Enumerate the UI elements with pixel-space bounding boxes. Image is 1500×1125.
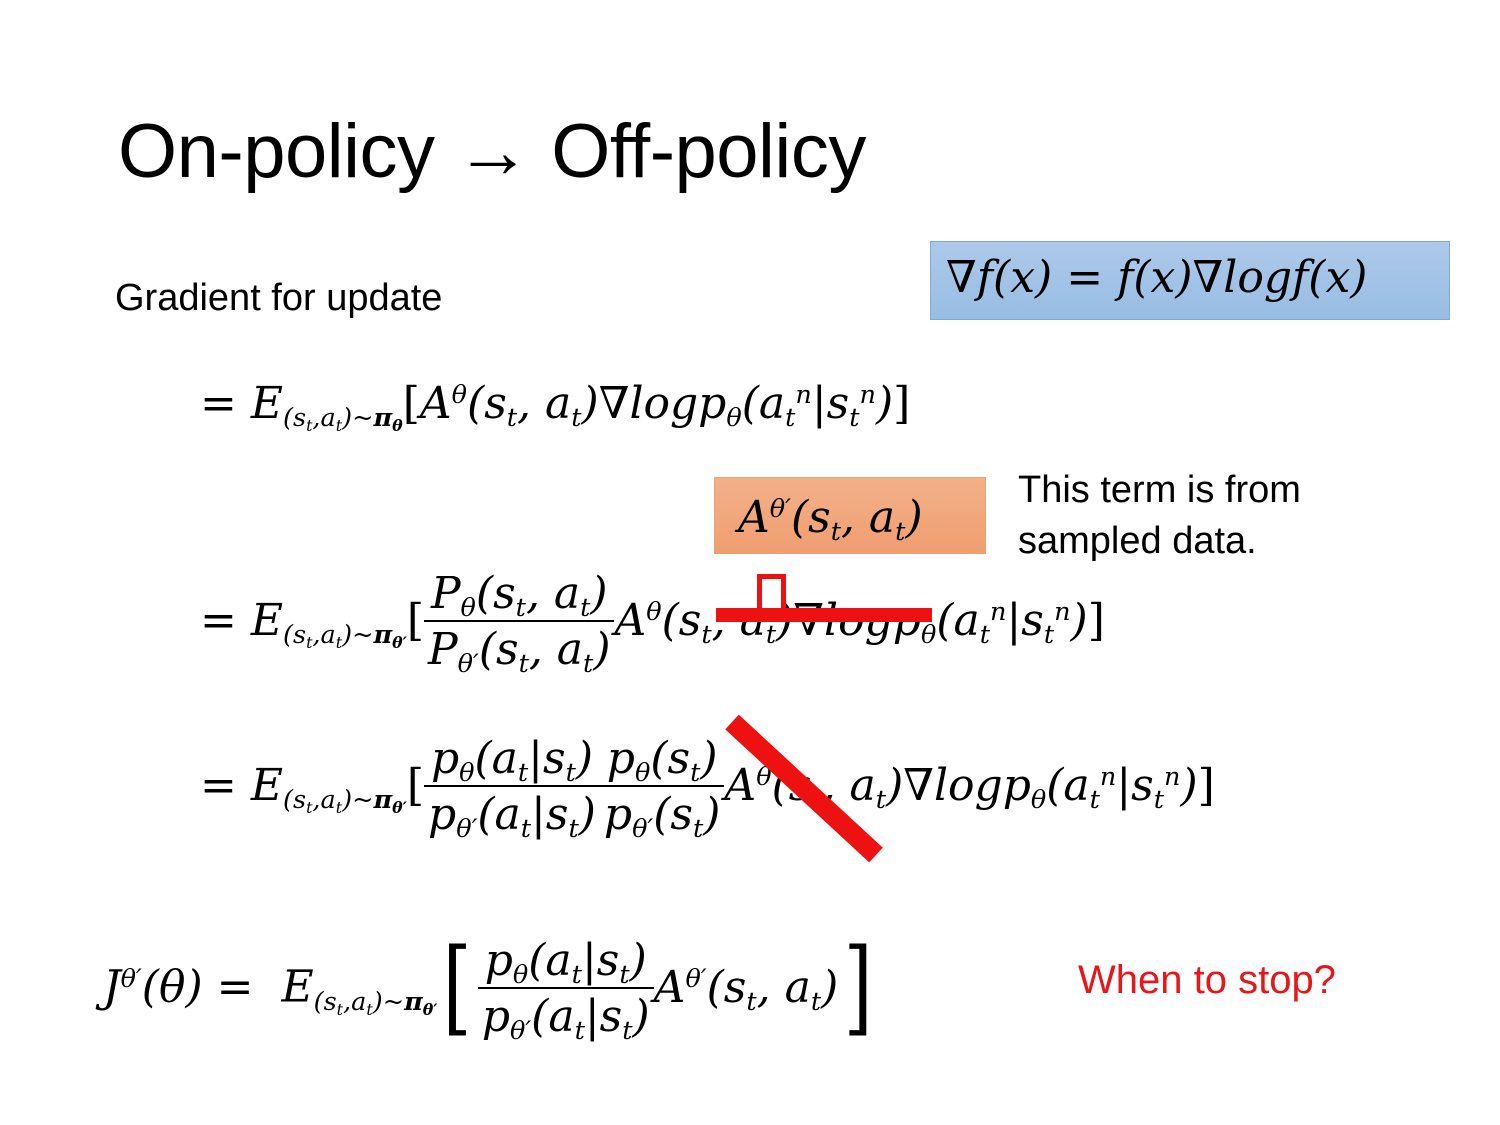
equation-line-4: Jθ′(θ) = E(st,at)~πθ′[pθ(at|st)pθ′(at|st…	[103, 930, 879, 1050]
advantage-term-4: Aθ′(st, at)	[654, 962, 839, 1013]
bracket-close-1: ]	[893, 378, 910, 429]
equals-sign-1: =	[200, 378, 237, 429]
expectation-subscript-4: (st,at)~πθ′	[314, 987, 438, 1017]
expectation-symbol-1: E	[251, 378, 283, 429]
action-probability-ratio-fraction-3: pθ(at|st)pθ′(at|st)	[424, 733, 600, 840]
fraction-denominator-3a: pθ′(at|st)	[424, 787, 600, 840]
probability-ratio-fraction-2: Pθ(st, at)Pθ′(st, at)	[424, 568, 614, 675]
horizontal-strikethrough-bar	[716, 608, 932, 622]
f-symbol-2: f	[1117, 252, 1133, 303]
equals-sign-2: =	[200, 595, 237, 646]
fraction-numerator-3b: pθ(st)	[600, 733, 725, 787]
nabla-icon-3: ∇	[599, 378, 630, 429]
equation-line-3: = E(st,at)~πθ′[pθ(at|st)pθ′(at|st)pθ(st)…	[200, 735, 1215, 842]
bracket-close-3: ]	[1198, 760, 1215, 811]
expectation-subscript-3: (st,at)~πθ′	[283, 785, 407, 815]
page-title: On-policy → Off-policy	[118, 112, 866, 192]
bracket-close-2: ]	[1088, 595, 1105, 646]
equals-sign-4: =	[217, 962, 254, 1013]
advantage-term-formula: Aθ′(st, at)	[738, 492, 923, 543]
advantage-A: A	[738, 492, 770, 543]
fraction-denominator-2: Pθ′(st, at)	[424, 622, 614, 675]
equals-sign-3: =	[200, 760, 237, 811]
grad-log-3: logpθ(atn|stn)	[934, 760, 1198, 811]
fraction-numerator-4: pθ(at|st)	[478, 935, 654, 989]
equation-line-1: = E(st,at)~πθ[Aθ(st, at)∇logpθ(atn|stn)]	[200, 378, 910, 429]
sampled-data-note: This term is from sampled data.	[1018, 465, 1398, 568]
grad-log-1: logpθ(atn|stn)	[629, 378, 893, 429]
nabla-icon-2: ∇	[1193, 252, 1224, 303]
advantage-term-1: Aθ(st, at)	[420, 378, 599, 429]
objective-superscript: θ′	[121, 964, 142, 994]
f-symbol: f	[977, 252, 993, 303]
expectation-symbol-4: E	[281, 962, 313, 1013]
fraction-numerator-3a: pθ(at|st)	[424, 733, 600, 787]
nabla-icon-5: ∇	[903, 760, 934, 811]
expectation-symbol-2: E	[251, 595, 283, 646]
equation-line-2: = E(st,at)~πθ′[Pθ(st, at)Pθ′(st, at)Aθ(s…	[200, 570, 1105, 677]
big-bracket-open: [	[443, 927, 472, 1047]
x-arg-2: (x)	[1133, 252, 1192, 303]
bracket-open-3: [	[407, 760, 424, 811]
bracket-open-2: [	[407, 595, 424, 646]
fraction-denominator-3b: pθ′(st)	[600, 787, 725, 840]
objective-arg: (θ)	[142, 962, 203, 1013]
x-arg: (x)	[993, 252, 1052, 303]
log-derivative-identity-formula: ∇f(x) = f(x)∇logf(x)	[946, 252, 1367, 303]
expectation-subscript-2: (st,at)~πθ′	[283, 620, 407, 650]
fraction-numerator-2: Pθ(st, at)	[424, 568, 614, 622]
gradient-for-update-label: Gradient for update	[115, 277, 442, 320]
expectation-symbol-3: E	[251, 760, 283, 811]
equals-sign: =	[1066, 252, 1103, 303]
bracket-open-1: [	[403, 378, 420, 429]
log-text: log	[1223, 252, 1292, 303]
big-bracket-close: ]	[844, 927, 873, 1047]
fraction-denominator-4: pθ′(at|st)	[478, 989, 654, 1042]
theta-prime-superscript: θ′	[770, 494, 791, 524]
nabla-icon: ∇	[946, 252, 977, 303]
when-to-stop-note: When to stop?	[1078, 958, 1336, 1003]
x-arg-3: (x)	[1308, 252, 1367, 303]
objective-symbol: J	[103, 962, 121, 1013]
state-probability-ratio-fraction-3: pθ(st)pθ′(st)	[600, 733, 725, 840]
expectation-subscript-1: (st,at)~πθ	[283, 403, 403, 433]
diagonal-strikethrough-line	[724, 712, 884, 862]
advantage-args: (st, at)	[791, 492, 923, 543]
probability-ratio-fraction-4: pθ(at|st)pθ′(at|st)	[478, 935, 654, 1042]
f-symbol-3: f	[1292, 252, 1308, 303]
